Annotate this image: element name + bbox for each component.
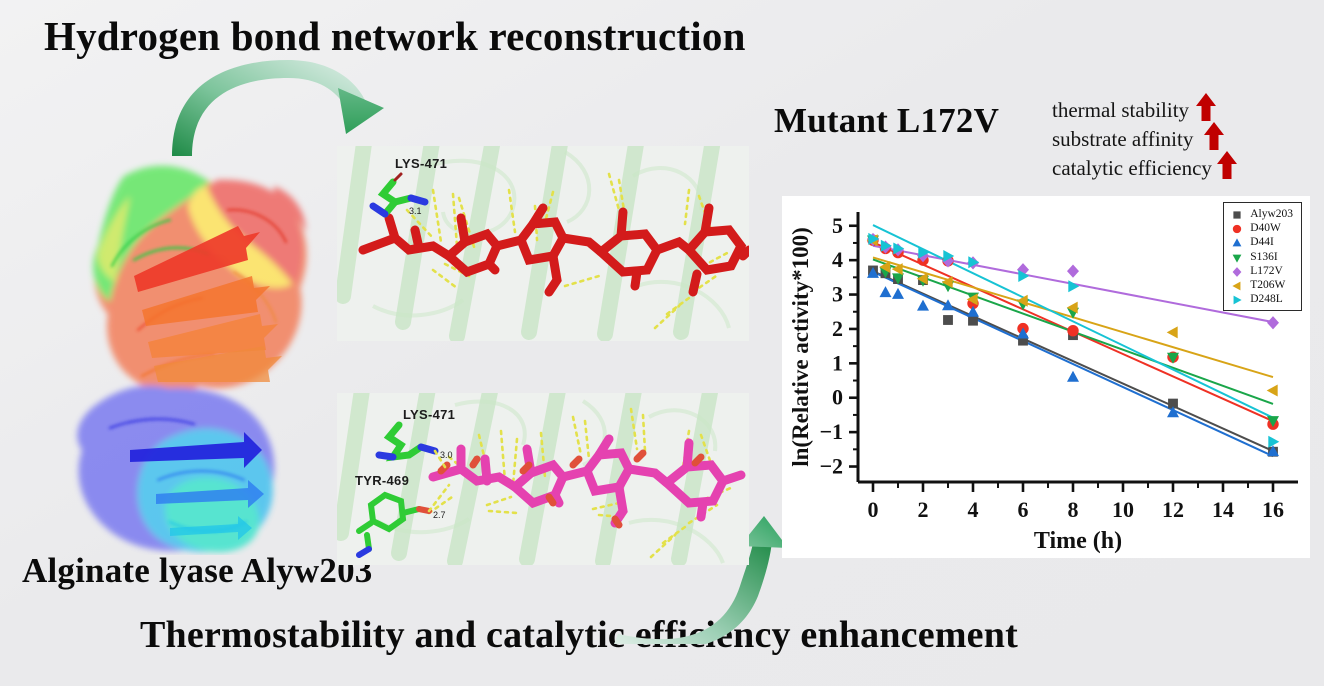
graphical-abstract: Hydrogen bond network reconstruction Alg… [0,0,1324,686]
residue-label-tyr469: TYR-469 [355,473,409,488]
svg-text:14: 14 [1212,497,1234,522]
legend-item-alyw203[interactable]: Alyw203 [1229,207,1293,221]
legend-marker-square-icon [1229,208,1245,220]
residue-label-lys471: LYS-471 [403,407,455,422]
mol-panel-mutant: LYS-471 3.0 TYR-469 2.7 [337,393,749,565]
legend-label: L172V [1250,265,1283,277]
svg-text:12: 12 [1162,497,1184,522]
distance-label: 3.0 [440,450,453,460]
svg-text:ln(Relative activity*100): ln(Relative activity*100) [788,227,813,467]
svg-text:2: 2 [918,497,929,522]
mutant-title: Mutant L172V [774,101,999,141]
protein-structure [38,150,328,555]
mol-panel-wildtype: LYS-471 3.1 [337,146,749,341]
svg-text:6: 6 [1018,497,1029,522]
legend-item-s136i[interactable]: S136I [1229,250,1293,264]
legend-marker-diamond-icon [1229,265,1245,277]
distance-label: 2.7 [433,510,446,520]
svg-text:Time (h): Time (h) [1034,528,1122,554]
svg-text:0: 0 [832,385,843,410]
legend-label: D248L [1250,293,1283,305]
legend-item-d40w[interactable]: D40W [1229,221,1293,235]
legend-item-t206w[interactable]: T206W [1229,278,1293,292]
svg-text:2: 2 [832,316,843,341]
svg-text:5: 5 [832,213,843,238]
svg-text:1: 1 [832,350,843,375]
distance-label: 3.1 [409,206,422,216]
legend-label: Alyw203 [1250,208,1293,220]
svg-text:4: 4 [832,247,843,272]
svg-text:0: 0 [868,497,879,522]
legend-item-d44i[interactable]: D44I [1229,235,1293,249]
svg-text:3: 3 [832,282,843,307]
up-arrow-icon [1216,150,1238,188]
property-label: substrate affinity [1052,125,1193,154]
page-title-bottom: Thermostability and catalytic efficiency… [140,613,1018,657]
legend-marker-triangle-left-icon [1229,279,1245,291]
thermostability-chart: −2−10123450246810121416Time (h)ln(Relati… [782,196,1310,558]
enzyme-label: Alginate lyase Alyw203 [22,551,373,591]
property-row: catalytic efficiency [1052,154,1238,183]
improved-properties-list: thermal stability substrate affinity cat… [1052,96,1238,183]
svg-text:16: 16 [1262,497,1284,522]
legend-label: D40W [1250,222,1281,234]
legend-label: S136I [1250,251,1277,263]
legend-item-l172v[interactable]: L172V [1229,264,1293,278]
legend-marker-triangle-down-icon [1229,251,1245,263]
legend-marker-triangle-up-icon [1229,236,1245,248]
legend-marker-circle-icon [1229,222,1245,234]
svg-text:10: 10 [1112,497,1134,522]
property-label: catalytic efficiency [1052,154,1212,183]
property-label: thermal stability [1052,96,1189,125]
residue-label-lys471: LYS-471 [395,156,447,171]
svg-text:8: 8 [1068,497,1079,522]
chart-legend: Alyw203D40WD44IS136IL172VT206WD248L [1223,202,1302,311]
svg-text:−1: −1 [819,419,843,444]
svg-text:4: 4 [968,497,979,522]
legend-label: T206W [1250,279,1285,291]
legend-marker-triangle-right-icon [1229,293,1245,305]
property-row: substrate affinity [1052,125,1238,154]
legend-item-d248l[interactable]: D248L [1229,292,1293,306]
svg-text:−2: −2 [819,454,843,479]
legend-label: D44I [1250,236,1274,248]
